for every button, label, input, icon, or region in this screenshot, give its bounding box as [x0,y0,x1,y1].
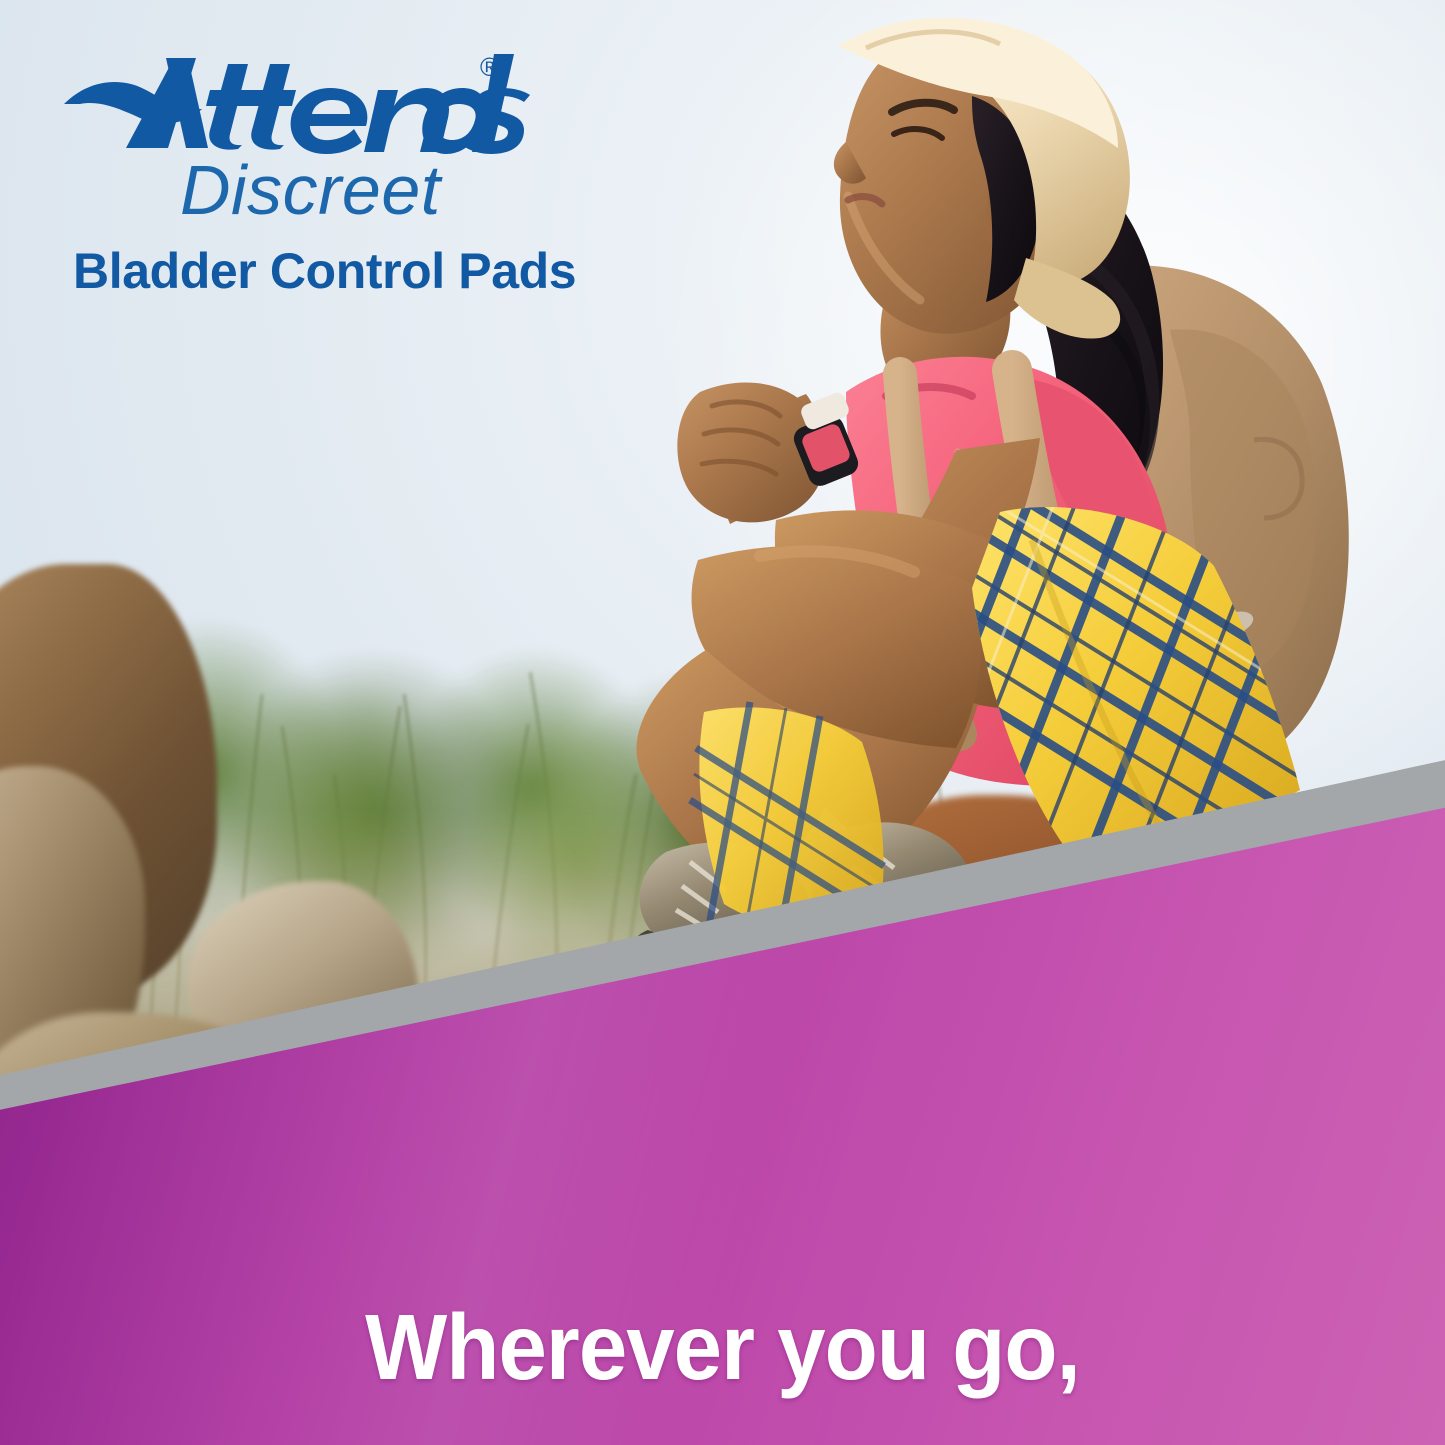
product-line-name: Bladder Control Pads [73,245,702,298]
attends-wordmark: ® [62,48,702,160]
tagline-line-1: Wherever you go, [47,1294,1398,1402]
advertisement-canvas: ® Discreet Bladder Control Pads Wherever… [0,0,1445,1445]
registered-trademark-symbol: ® [480,52,499,83]
sub-brand-name: Discreet [180,154,702,227]
attends-wordmark-glyphs [62,48,532,160]
brand-logo-lockup: ® Discreet Bladder Control Pads [62,48,702,297]
tagline-block: Wherever you go, carry the confidence of… [47,1078,1398,1445]
